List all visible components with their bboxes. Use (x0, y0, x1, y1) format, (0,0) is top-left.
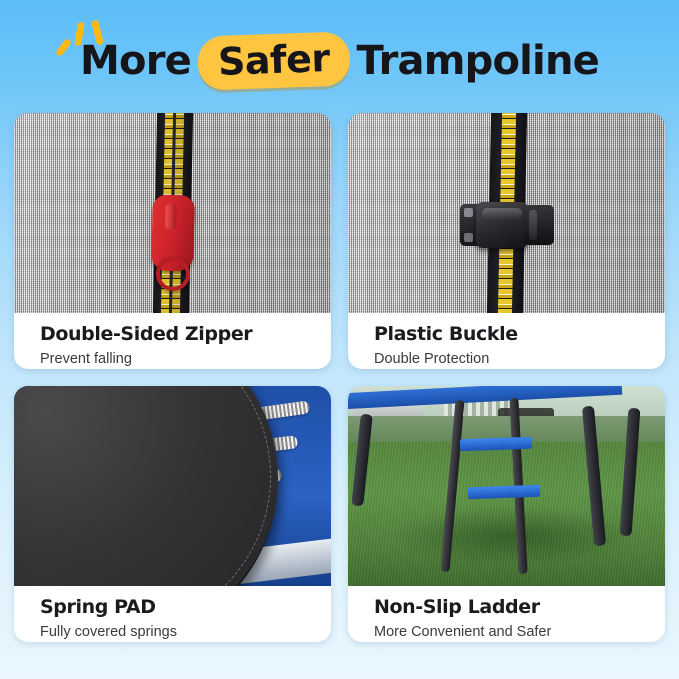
title-word-safer: Safer (217, 38, 330, 82)
trampoline-safety-pad (14, 386, 278, 586)
safer-highlight-badge: Safer (197, 31, 350, 90)
feature-card-double-sided-zipper[interactable]: Double-Sided Zipper Prevent falling (14, 113, 331, 369)
page-title: MoreSaferTrampoline (0, 34, 679, 88)
card-caption: Double-Sided Zipper Prevent falling (14, 313, 331, 369)
spring-pad-photo (14, 386, 331, 586)
plastic-buckle (460, 201, 554, 249)
card-title: Spring PAD (40, 595, 331, 619)
zipper-pull-ring (156, 257, 190, 291)
buckle-photo (348, 113, 665, 313)
title-word-trampoline: Trampoline (357, 38, 599, 84)
card-caption: Non-Slip Ladder More Convenient and Safe… (348, 586, 665, 642)
page-header: MoreSaferTrampoline (0, 0, 679, 112)
title-word-more: More (80, 38, 191, 84)
buckle-body (476, 202, 528, 248)
ladder-step-top (460, 437, 532, 452)
card-caption: Spring PAD Fully covered springs (14, 586, 331, 642)
card-title: Plastic Buckle (374, 322, 665, 346)
buckle-right-wing (524, 205, 554, 245)
feature-card-grid: Double-Sided Zipper Prevent falling Plas… (14, 113, 665, 642)
card-caption: Plastic Buckle Double Protection (348, 313, 665, 369)
card-title: Double-Sided Zipper (40, 322, 331, 346)
card-subtitle: Fully covered springs (40, 622, 331, 642)
feature-card-non-slip-ladder[interactable]: Non-Slip Ladder More Convenient and Safe… (348, 386, 665, 642)
feature-card-spring-pad[interactable]: Spring PAD Fully covered springs (14, 386, 331, 642)
card-subtitle: Double Protection (374, 349, 665, 369)
card-subtitle: More Convenient and Safer (374, 622, 665, 642)
feature-card-plastic-buckle[interactable]: Plastic Buckle Double Protection (348, 113, 665, 369)
card-subtitle: Prevent falling (40, 349, 331, 369)
ladder-photo (348, 386, 665, 586)
ladder-step-bottom (468, 485, 540, 500)
card-title: Non-Slip Ladder (374, 595, 665, 619)
zipper-photo (14, 113, 331, 313)
